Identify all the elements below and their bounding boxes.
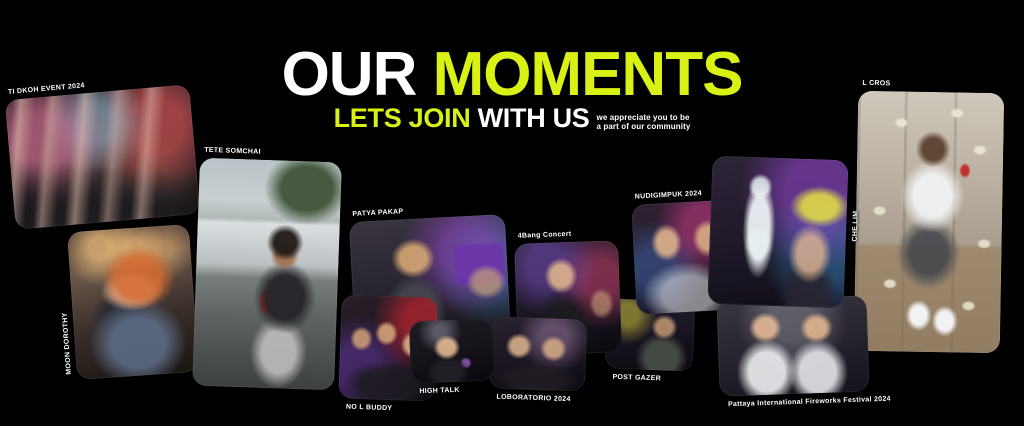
photo-frame — [707, 156, 848, 309]
photo-subject-figure — [67, 224, 199, 380]
photo-caption: MOON DOROTHY — [62, 312, 73, 375]
page-title-part2: MOMENTS — [433, 40, 743, 109]
photo-image-loboratorio — [489, 316, 587, 391]
subtitle-description-line2: a part of our community — [597, 122, 691, 131]
photo-card-moon-dorothy[interactable]: MOON DOROTHY — [67, 224, 199, 380]
photo-subject-figure — [192, 158, 342, 391]
subtitle-white: WITH US — [478, 103, 590, 133]
subtitle-main: LETS JOIN WITH US — [334, 105, 590, 132]
photo-image-l-cros — [854, 91, 1005, 354]
photo-image-che-lim — [707, 156, 848, 309]
photo-card-tete-somchai[interactable]: TETE SOMCHAI — [192, 158, 342, 391]
photo-card-l-cros[interactable]: L CROS — [854, 91, 1005, 354]
photo-caption: L CROS — [862, 80, 890, 87]
photo-banner-bazzi — [707, 156, 848, 309]
photo-caption: NUDIGIMPUK 2024 — [635, 190, 702, 201]
page-title-part1: OUR — [282, 40, 433, 109]
photo-subjects — [489, 316, 587, 391]
photo-image-tete-somchai — [192, 158, 342, 391]
photo-card-high-talk[interactable]: HIGH TALK — [409, 319, 495, 384]
photo-caption: NO L BUDDY — [346, 404, 393, 413]
photo-subject-figure — [409, 319, 495, 384]
photo-card-che-lim[interactable]: CHE LIM — [707, 156, 848, 309]
photo-subject-figure — [854, 91, 1005, 354]
photo-caption: LOBORATORIO 2024 — [496, 394, 570, 404]
photo-caption: CHE LIM — [852, 211, 860, 242]
photo-frame — [67, 224, 199, 380]
photo-frame — [5, 84, 201, 230]
photo-subjects — [5, 84, 201, 230]
photo-product-bottle — [707, 156, 848, 309]
photo-image-pattaya-fireworks — [716, 295, 869, 396]
photo-caption: POST GAZER — [612, 374, 661, 383]
photo-frame — [409, 319, 495, 384]
subtitle-description-line1: we appreciate you to be — [597, 113, 691, 122]
photo-frame — [192, 158, 342, 391]
photo-caption: 4Bang Concert — [518, 231, 572, 240]
moments-gallery-page: TI DKOH EVENT 2024 MOON DOROTHY TETE SOM… — [0, 0, 1024, 426]
photo-card-pattaya-fireworks[interactable]: Pattaya International Fireworks Festival… — [716, 295, 869, 396]
photo-background-house — [192, 158, 342, 391]
photo-caption: HIGH TALK — [419, 387, 460, 395]
photo-background-boxes — [854, 91, 1005, 354]
subtitle-description: we appreciate you to be a part of our co… — [597, 113, 691, 132]
photo-frame — [489, 316, 587, 391]
photo-subjects — [716, 295, 869, 396]
subtitle-lime: LETS JOIN — [334, 103, 478, 133]
photo-card-tidkoh-event[interactable]: TI DKOH EVENT 2024 — [5, 84, 201, 230]
photo-caption: Pattaya International Fireworks Festival… — [728, 396, 891, 409]
photo-image-tidkoh-event — [5, 84, 201, 230]
photo-image-moon-dorothy — [67, 224, 199, 380]
photo-caption: TETE SOMCHAI — [204, 147, 261, 156]
photo-frame — [854, 91, 1005, 354]
photo-card-loboratorio[interactable]: LOBORATORIO 2024 — [489, 316, 587, 391]
photo-image-high-talk — [409, 319, 495, 384]
photo-frame — [716, 295, 869, 396]
photo-caption: PATYA PAKAP — [352, 208, 403, 218]
photo-money-confetti — [854, 91, 1005, 354]
